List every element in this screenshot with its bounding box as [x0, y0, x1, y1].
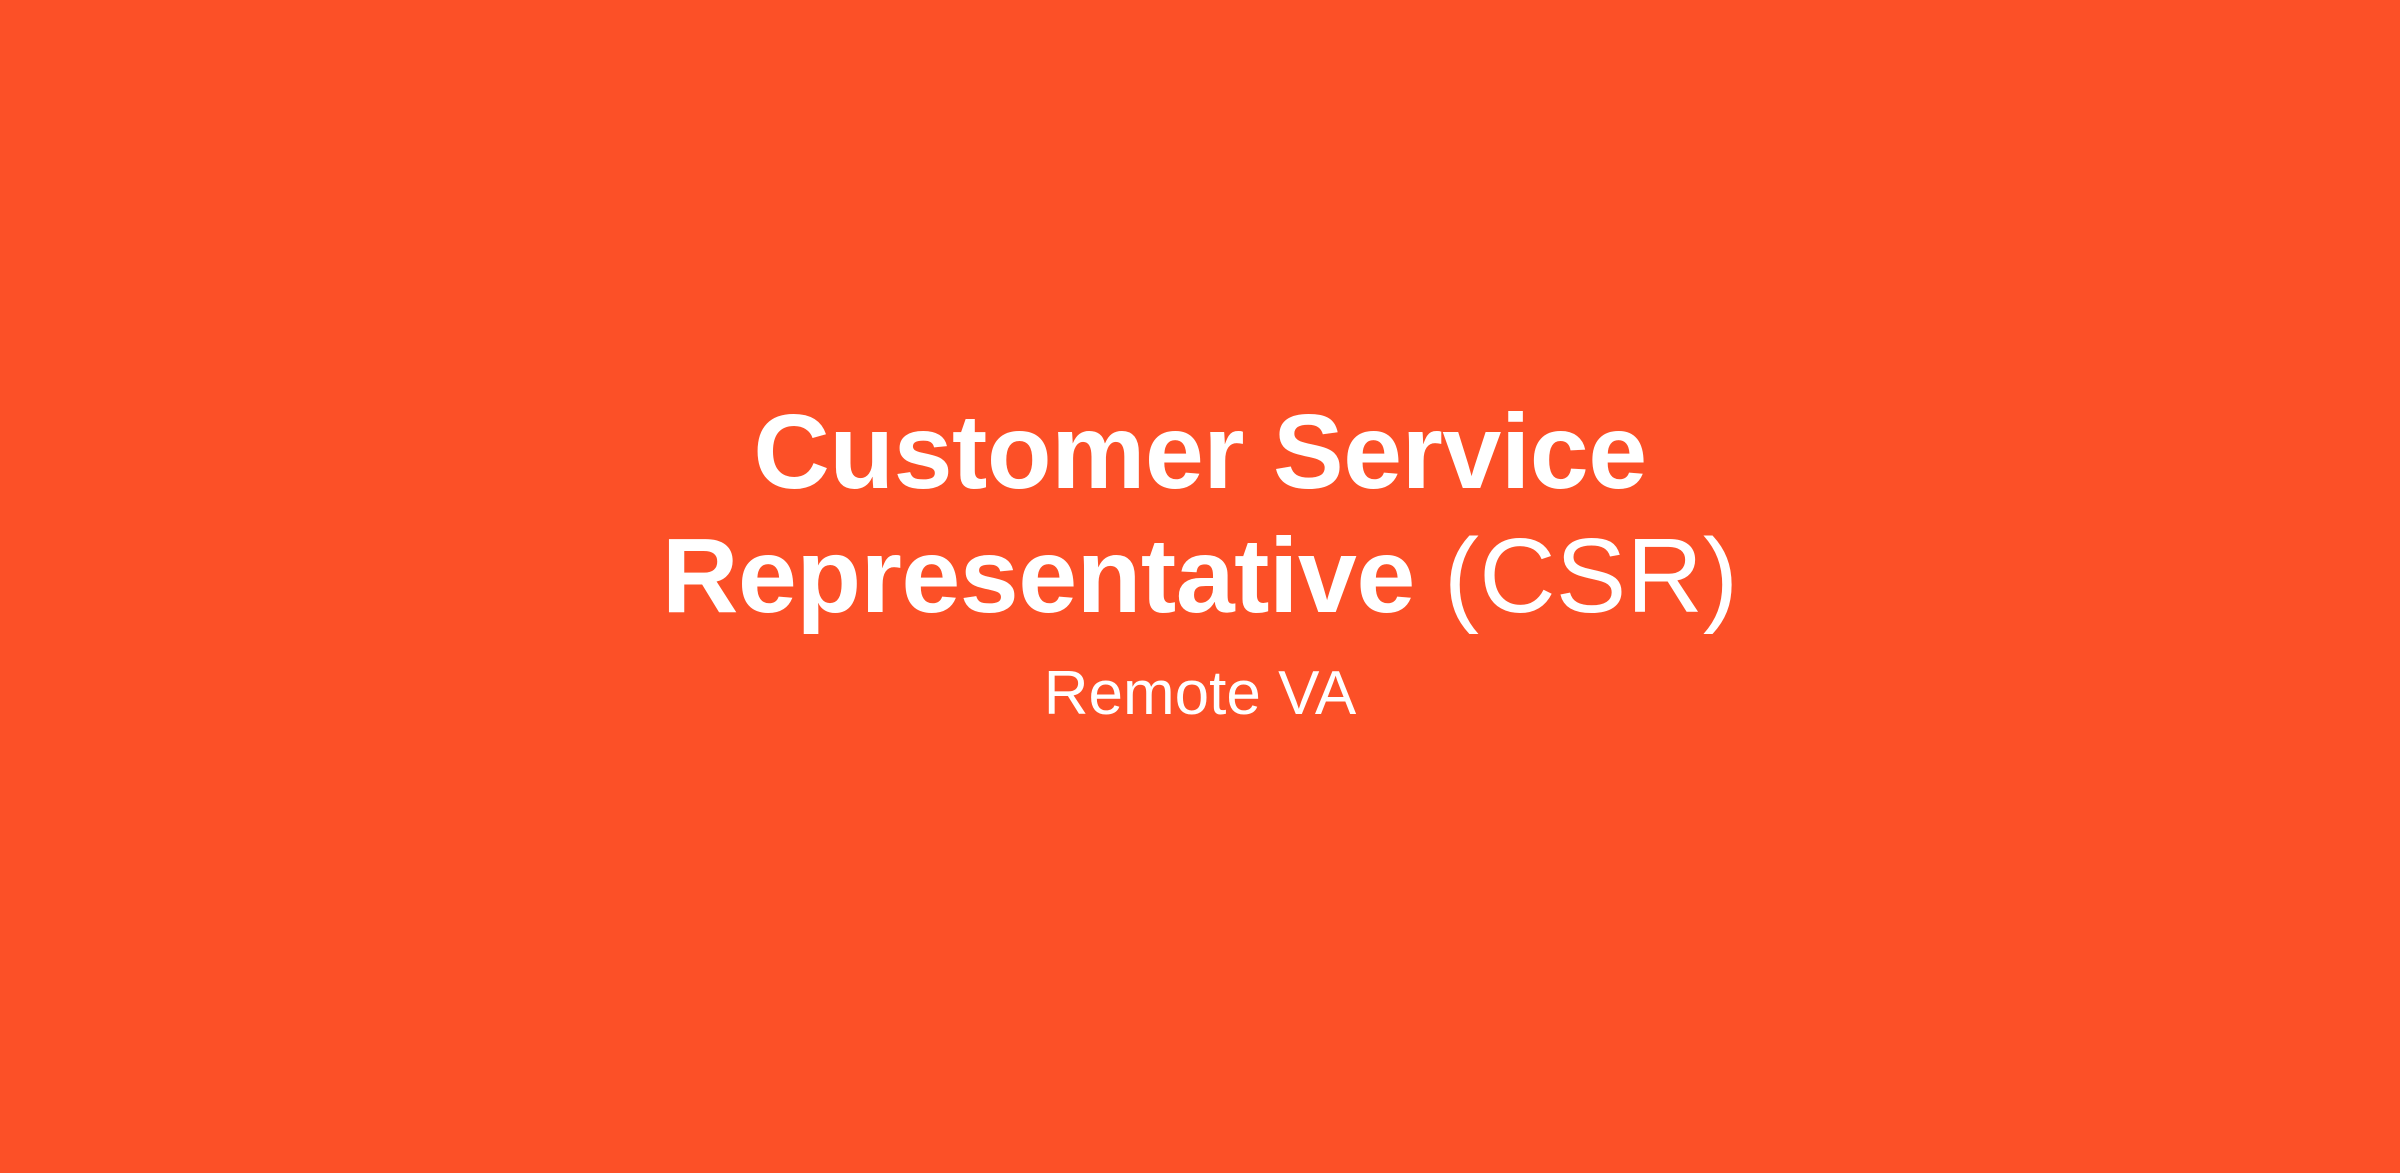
job-title-space [1415, 517, 1444, 635]
job-posting-banner: Customer Service Representative (CSR) Re… [0, 0, 2400, 1173]
job-subtitle: Remote VA [1044, 660, 1356, 728]
job-title: Customer Service Representative (CSR) [420, 390, 1980, 638]
job-title-acronym: (CSR) [1444, 517, 1738, 635]
banner-content: Customer Service Representative (CSR) Re… [0, 390, 2400, 728]
